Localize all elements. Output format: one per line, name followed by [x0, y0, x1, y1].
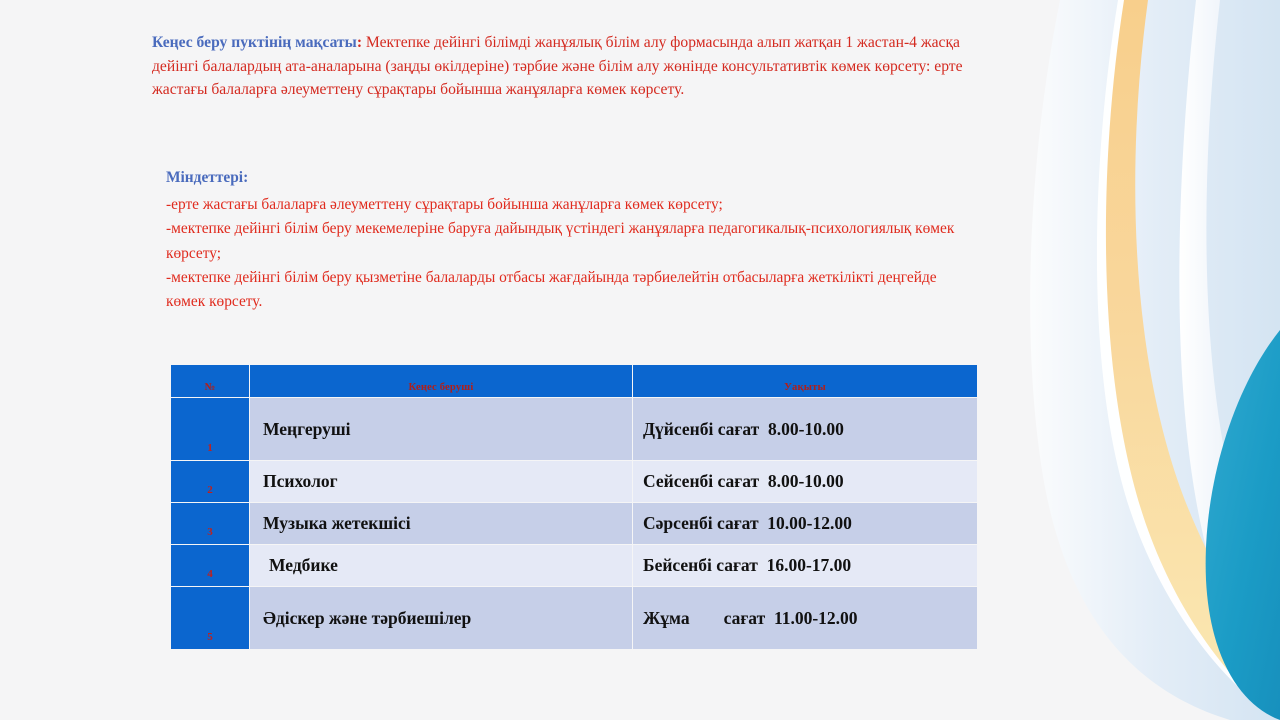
- row-hours: 10.00-12.00: [767, 513, 852, 533]
- table-row: 1 Меңгеруші Дүйсенбі сағат 8.00-10.00: [171, 398, 977, 460]
- tasks-block: Міндеттері: -ерте жастағы балаларға әлеу…: [166, 166, 966, 314]
- row-consultant: Психолог: [250, 461, 632, 502]
- list-item: -ерте жастағы балаларға әлеуметтену сұра…: [166, 193, 966, 217]
- row-consultant-label: Медбике: [269, 555, 338, 575]
- row-time: Жұмасағат 11.00-12.00: [633, 587, 977, 649]
- tasks-title: Міндеттері:: [166, 166, 966, 190]
- column-header-number: №: [171, 365, 249, 397]
- goal-paragraph-block: Кеңес беру пуктінің мақсаты: Мектепке де…: [152, 31, 1008, 102]
- goal-paragraph: Кеңес беру пуктінің мақсаты: Мектепке де…: [152, 31, 1008, 102]
- table-row: 2 Психолог Сейсенбі сағат 8.00-10.00: [171, 461, 977, 502]
- row-word: сағат: [724, 608, 766, 628]
- row-number: 2: [171, 461, 249, 502]
- row-day: Бейсенбі: [643, 555, 712, 575]
- tasks-list: -ерте жастағы балаларға әлеуметтену сұра…: [166, 193, 966, 314]
- row-word: сағат: [716, 555, 758, 575]
- row-hours: 8.00-10.00: [768, 471, 844, 491]
- row-time: Бейсенбі сағат 16.00-17.00: [633, 545, 977, 586]
- row-consultant: Медбике: [250, 545, 632, 586]
- column-header-consultant: Кеңес беруші: [250, 365, 632, 397]
- row-number: 4: [171, 545, 249, 586]
- row-day: Сәрсенбі: [643, 513, 713, 533]
- row-consultant: Музыка жетекшісі: [250, 503, 632, 544]
- row-word: сағат: [718, 471, 760, 491]
- row-word: сағат: [718, 419, 760, 439]
- row-time: Сәрсенбі сағат 10.00-12.00: [633, 503, 977, 544]
- table-header: № Кеңес беруші Уақыты: [171, 365, 977, 397]
- consultation-schedule-table: № Кеңес беруші Уақыты 1 Меңгеруші Дүйсен…: [170, 364, 978, 650]
- row-number: 5: [171, 587, 249, 649]
- row-number: 1: [171, 398, 249, 460]
- table-row: 4 Медбике Бейсенбі сағат 16.00-17.00: [171, 545, 977, 586]
- row-hours: 16.00-17.00: [767, 555, 852, 575]
- row-word: сағат: [717, 513, 759, 533]
- list-item: -мектепке дейінгі білім беру мекемелерін…: [166, 217, 966, 266]
- row-day: Сейсенбі: [643, 471, 713, 491]
- column-header-time: Уақыты: [633, 365, 977, 397]
- table-body: 1 Меңгеруші Дүйсенбі сағат 8.00-10.00 2 …: [171, 398, 977, 649]
- table-header-row: № Кеңес беруші Уақыты: [171, 365, 977, 397]
- row-hours: 11.00-12.00: [774, 608, 858, 628]
- row-time: Дүйсенбі сағат 8.00-10.00: [633, 398, 977, 460]
- row-day: Дүйсенбі: [643, 419, 713, 439]
- row-consultant: Әдіскер және тәрбиешілер: [250, 587, 632, 649]
- goal-lead-label: Кеңес беру пуктінің мақсаты: [152, 34, 357, 51]
- row-consultant: Меңгеруші: [250, 398, 632, 460]
- row-day: Жұма: [643, 608, 690, 628]
- slide-content: Кеңес беру пуктінің мақсаты: Мектепке де…: [0, 0, 1060, 720]
- list-item: -мектепке дейінгі білім беру қызметіне б…: [166, 266, 966, 315]
- table-row: 5 Әдіскер және тәрбиешілер Жұмасағат 11.…: [171, 587, 977, 649]
- row-hours: 8.00-10.00: [768, 419, 844, 439]
- row-number: 3: [171, 503, 249, 544]
- row-time: Сейсенбі сағат 8.00-10.00: [633, 461, 977, 502]
- table-row: 3 Музыка жетекшісі Сәрсенбі сағат 10.00-…: [171, 503, 977, 544]
